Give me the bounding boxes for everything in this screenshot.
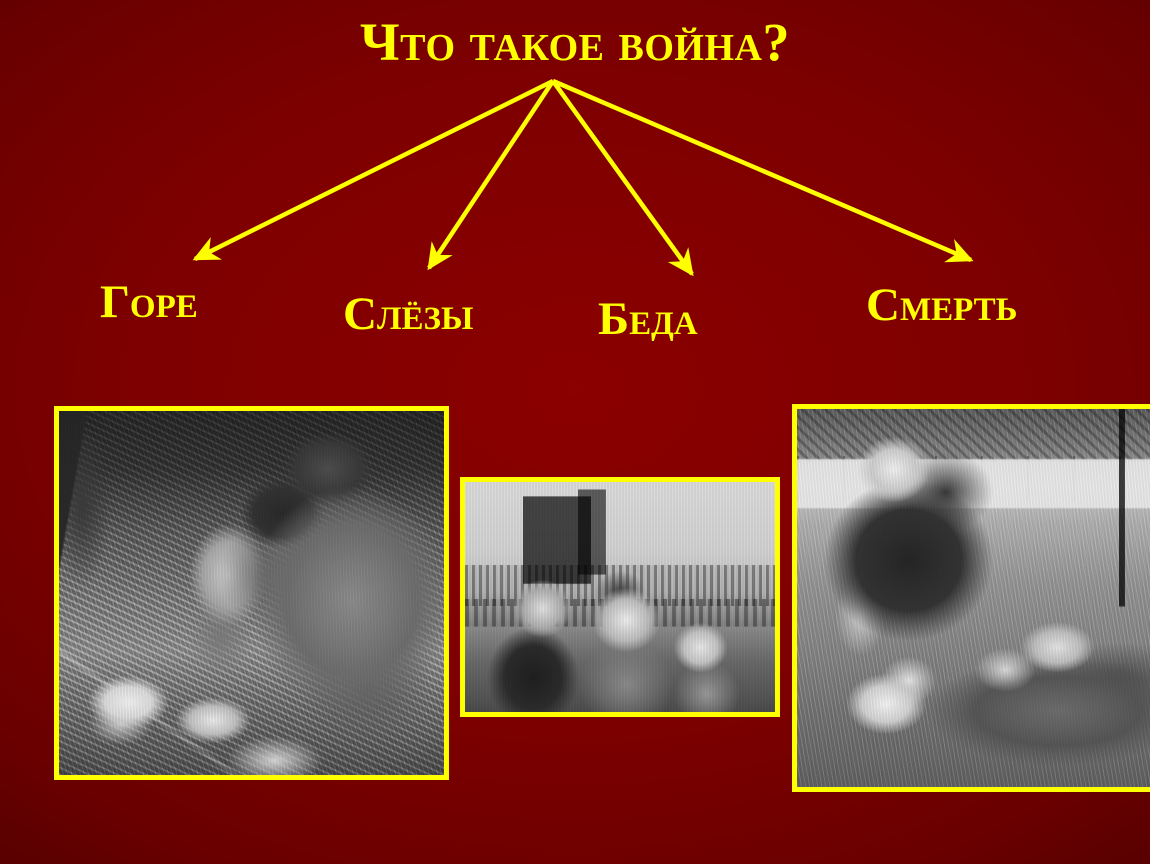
photo-right xyxy=(792,404,1150,792)
photo-right-image xyxy=(797,409,1150,787)
photo-left-image xyxy=(59,411,444,775)
page-title: Что такое война? xyxy=(0,14,1150,71)
branch-label-beda: Беда xyxy=(598,296,698,343)
arrow-to-beda xyxy=(553,81,692,274)
arrow-to-gore xyxy=(195,81,553,259)
presentation-slide: Что такое война? Горе Слёзы Беда Смерть xyxy=(0,0,1150,864)
arrow-to-smert xyxy=(553,81,971,260)
branch-label-slezy: Слёзы xyxy=(343,291,473,338)
arrow-to-slezy xyxy=(429,81,553,268)
photo-left xyxy=(54,406,449,780)
branch-label-smert: Смерть xyxy=(866,282,1018,329)
photo-middle-image xyxy=(465,482,775,712)
branch-label-gore: Горе xyxy=(100,279,198,326)
photo-middle xyxy=(460,477,780,717)
